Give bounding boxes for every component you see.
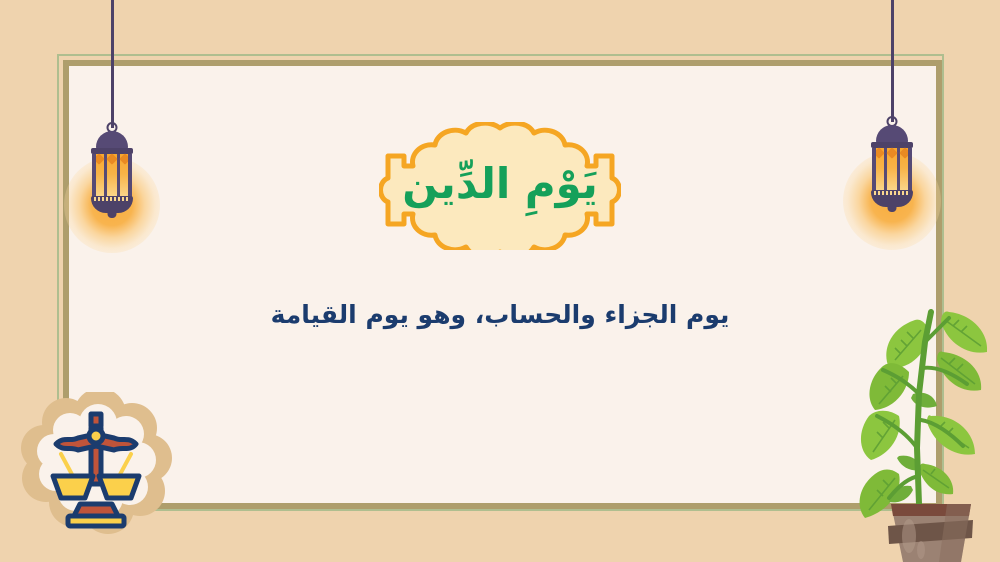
potted-plant bbox=[855, 298, 1000, 562]
lantern-arches bbox=[94, 154, 130, 168]
plant-leaves bbox=[860, 311, 988, 518]
lantern-arches bbox=[874, 148, 910, 162]
title-cartouche: يَوْمِ الدِّين bbox=[379, 122, 621, 250]
balance-scales-badge bbox=[20, 392, 172, 542]
lantern-cord bbox=[111, 0, 114, 128]
lantern-rail-left bbox=[872, 148, 876, 192]
slide-canvas: يَوْمِ الدِّين يوم الجزاء والحساب، وهو ي… bbox=[0, 0, 1000, 562]
lantern-cord bbox=[891, 0, 894, 122]
lantern-rail-left bbox=[92, 154, 96, 198]
subtitle-text: يوم الجزاء والحساب، وهو يوم القيامة bbox=[0, 300, 1000, 329]
lantern-base-dots bbox=[94, 197, 130, 201]
lantern-rail-right bbox=[908, 148, 912, 192]
plant-pot bbox=[888, 504, 973, 562]
page-title: يَوْمِ الدِّين bbox=[379, 122, 621, 250]
lantern-rail-right bbox=[128, 154, 132, 198]
lantern-base-dots bbox=[874, 191, 910, 195]
